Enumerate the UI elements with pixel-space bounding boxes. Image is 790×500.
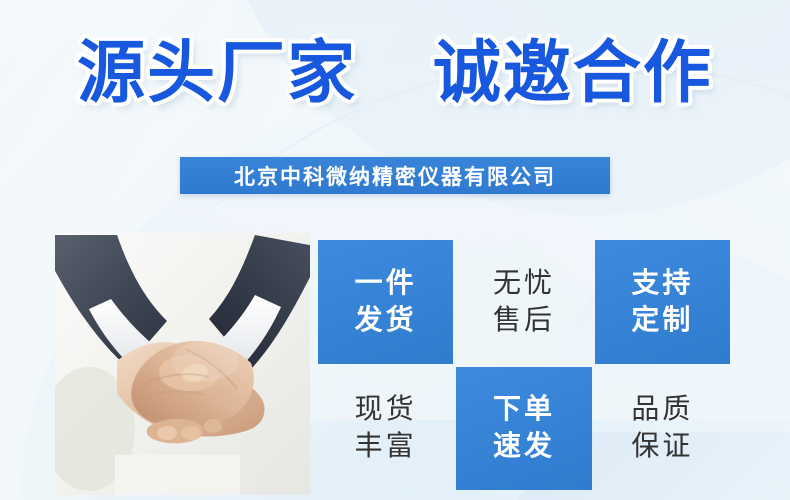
feature-line-2: 定制 — [631, 302, 693, 339]
feature-line-2: 保证 — [631, 428, 693, 465]
company-name-bar: 北京中科微纳精密仪器有限公司 — [180, 157, 610, 194]
feature-tile-fast-dispatch[interactable]: 下单 速发 — [456, 367, 591, 491]
company-name-text: 北京中科微纳精密仪器有限公司 — [234, 161, 556, 191]
feature-line-1: 下单 — [493, 391, 555, 428]
feature-line-1: 现货 — [355, 391, 417, 428]
feature-line-2: 丰富 — [355, 428, 417, 465]
feature-tile-worry-free-after-sales[interactable]: 无忧 售后 — [456, 240, 591, 364]
feature-line-1: 无忧 — [493, 265, 555, 302]
feature-grid: 一件 发货 无忧 售后 支持 定制 现货 丰富 下单 速发 品质 保证 — [318, 240, 730, 490]
headline-right-text: 诚邀合作 — [433, 35, 713, 111]
handshake-illustration — [55, 233, 310, 495]
headline-left-text: 源头厂家 — [77, 35, 357, 111]
promo-banner: 源头厂家 诚邀合作 北京中科微纳精密仪器有限公司 — [0, 0, 790, 500]
feature-line-2: 发货 — [355, 302, 417, 339]
feature-line-1: 一件 — [355, 265, 417, 302]
feature-line-1: 支持 — [631, 265, 693, 302]
feature-line-1: 品质 — [631, 391, 693, 428]
feature-tile-one-piece-shipping[interactable]: 一件 发货 — [318, 240, 453, 364]
feature-tile-supports-customization[interactable]: 支持 定制 — [595, 240, 730, 364]
headline: 源头厂家 诚邀合作 — [0, 38, 790, 109]
feature-tile-ample-stock[interactable]: 现货 丰富 — [318, 367, 453, 491]
handshake-photo — [55, 233, 310, 495]
feature-tile-quality-guaranteed[interactable]: 品质 保证 — [595, 367, 730, 491]
feature-line-2: 售后 — [493, 302, 555, 339]
feature-line-2: 速发 — [493, 428, 555, 465]
